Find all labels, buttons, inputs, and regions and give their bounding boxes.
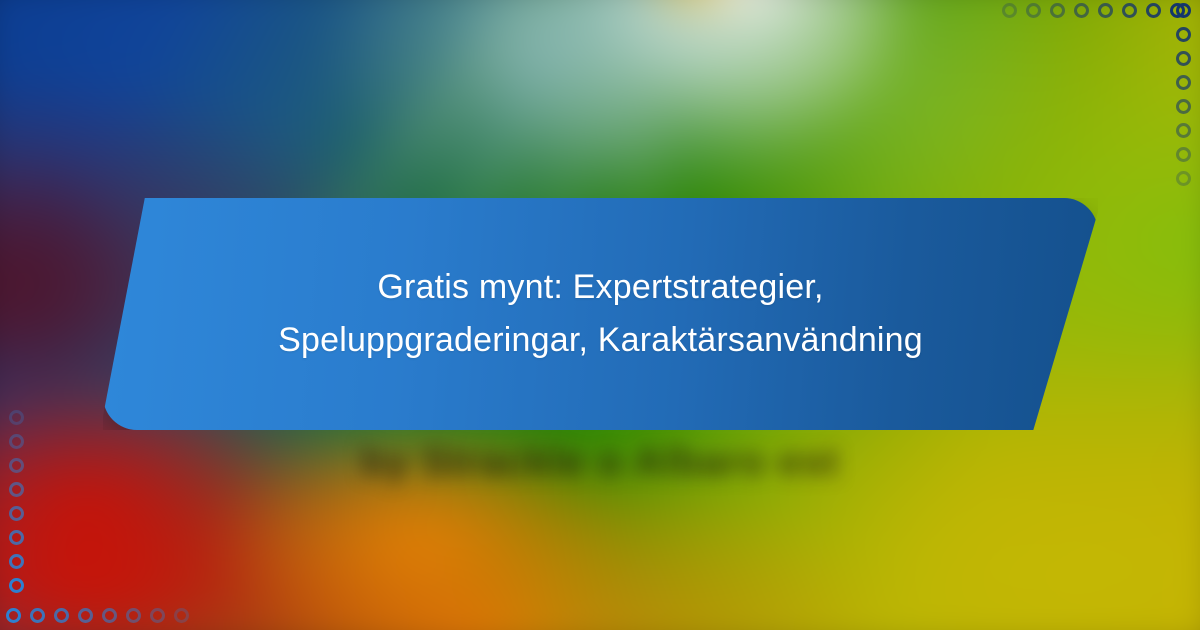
decor-circle-icon	[9, 554, 24, 569]
decor-circle-icon	[78, 608, 93, 623]
page-title: Gratis mynt: Expertstrategier, Speluppgr…	[221, 261, 981, 366]
decor-dots-bottom-row	[6, 608, 198, 623]
decor-circle-icon	[9, 506, 24, 521]
decor-circle-icon	[1026, 3, 1041, 18]
decor-circle-icon	[1176, 123, 1191, 138]
decor-dots-left-column	[9, 410, 24, 602]
decor-circle-icon	[1176, 99, 1191, 114]
decor-circle-icon	[1074, 3, 1089, 18]
decor-circle-icon	[9, 578, 24, 593]
decor-circle-icon	[54, 608, 69, 623]
decor-circle-icon	[9, 482, 24, 497]
decor-circle-icon	[30, 608, 45, 623]
decor-dots-top-right	[1002, 3, 1194, 18]
screenshot-canvas: by Strackle o Albaro est Gratis mynt: Ex…	[0, 0, 1200, 630]
decor-circle-icon	[150, 608, 165, 623]
decor-circle-icon	[1002, 3, 1017, 18]
decor-circle-icon	[9, 530, 24, 545]
decor-circle-icon	[9, 410, 24, 425]
decor-circle-icon	[9, 458, 24, 473]
decor-circle-icon	[9, 434, 24, 449]
decor-circle-icon	[1176, 51, 1191, 66]
decor-circle-icon	[1146, 3, 1161, 18]
decor-circle-icon	[174, 608, 189, 623]
title-banner: Gratis mynt: Expertstrategier, Speluppgr…	[103, 198, 1098, 430]
decor-circle-icon	[1176, 3, 1191, 18]
decor-circle-icon	[1098, 3, 1113, 18]
background-top-highlight	[660, 0, 790, 6]
decor-dots-right-column	[1176, 3, 1191, 195]
blurred-background-text: by Strackle o Albaro est	[0, 440, 1200, 485]
decor-circle-icon	[102, 608, 117, 623]
decor-circle-icon	[1176, 147, 1191, 162]
decor-circle-icon	[1050, 3, 1065, 18]
decor-circle-icon	[6, 608, 21, 623]
decor-circle-icon	[1122, 3, 1137, 18]
decor-circle-icon	[1176, 27, 1191, 42]
decor-circle-icon	[126, 608, 141, 623]
decor-circle-icon	[1176, 171, 1191, 186]
decor-circle-icon	[1176, 75, 1191, 90]
